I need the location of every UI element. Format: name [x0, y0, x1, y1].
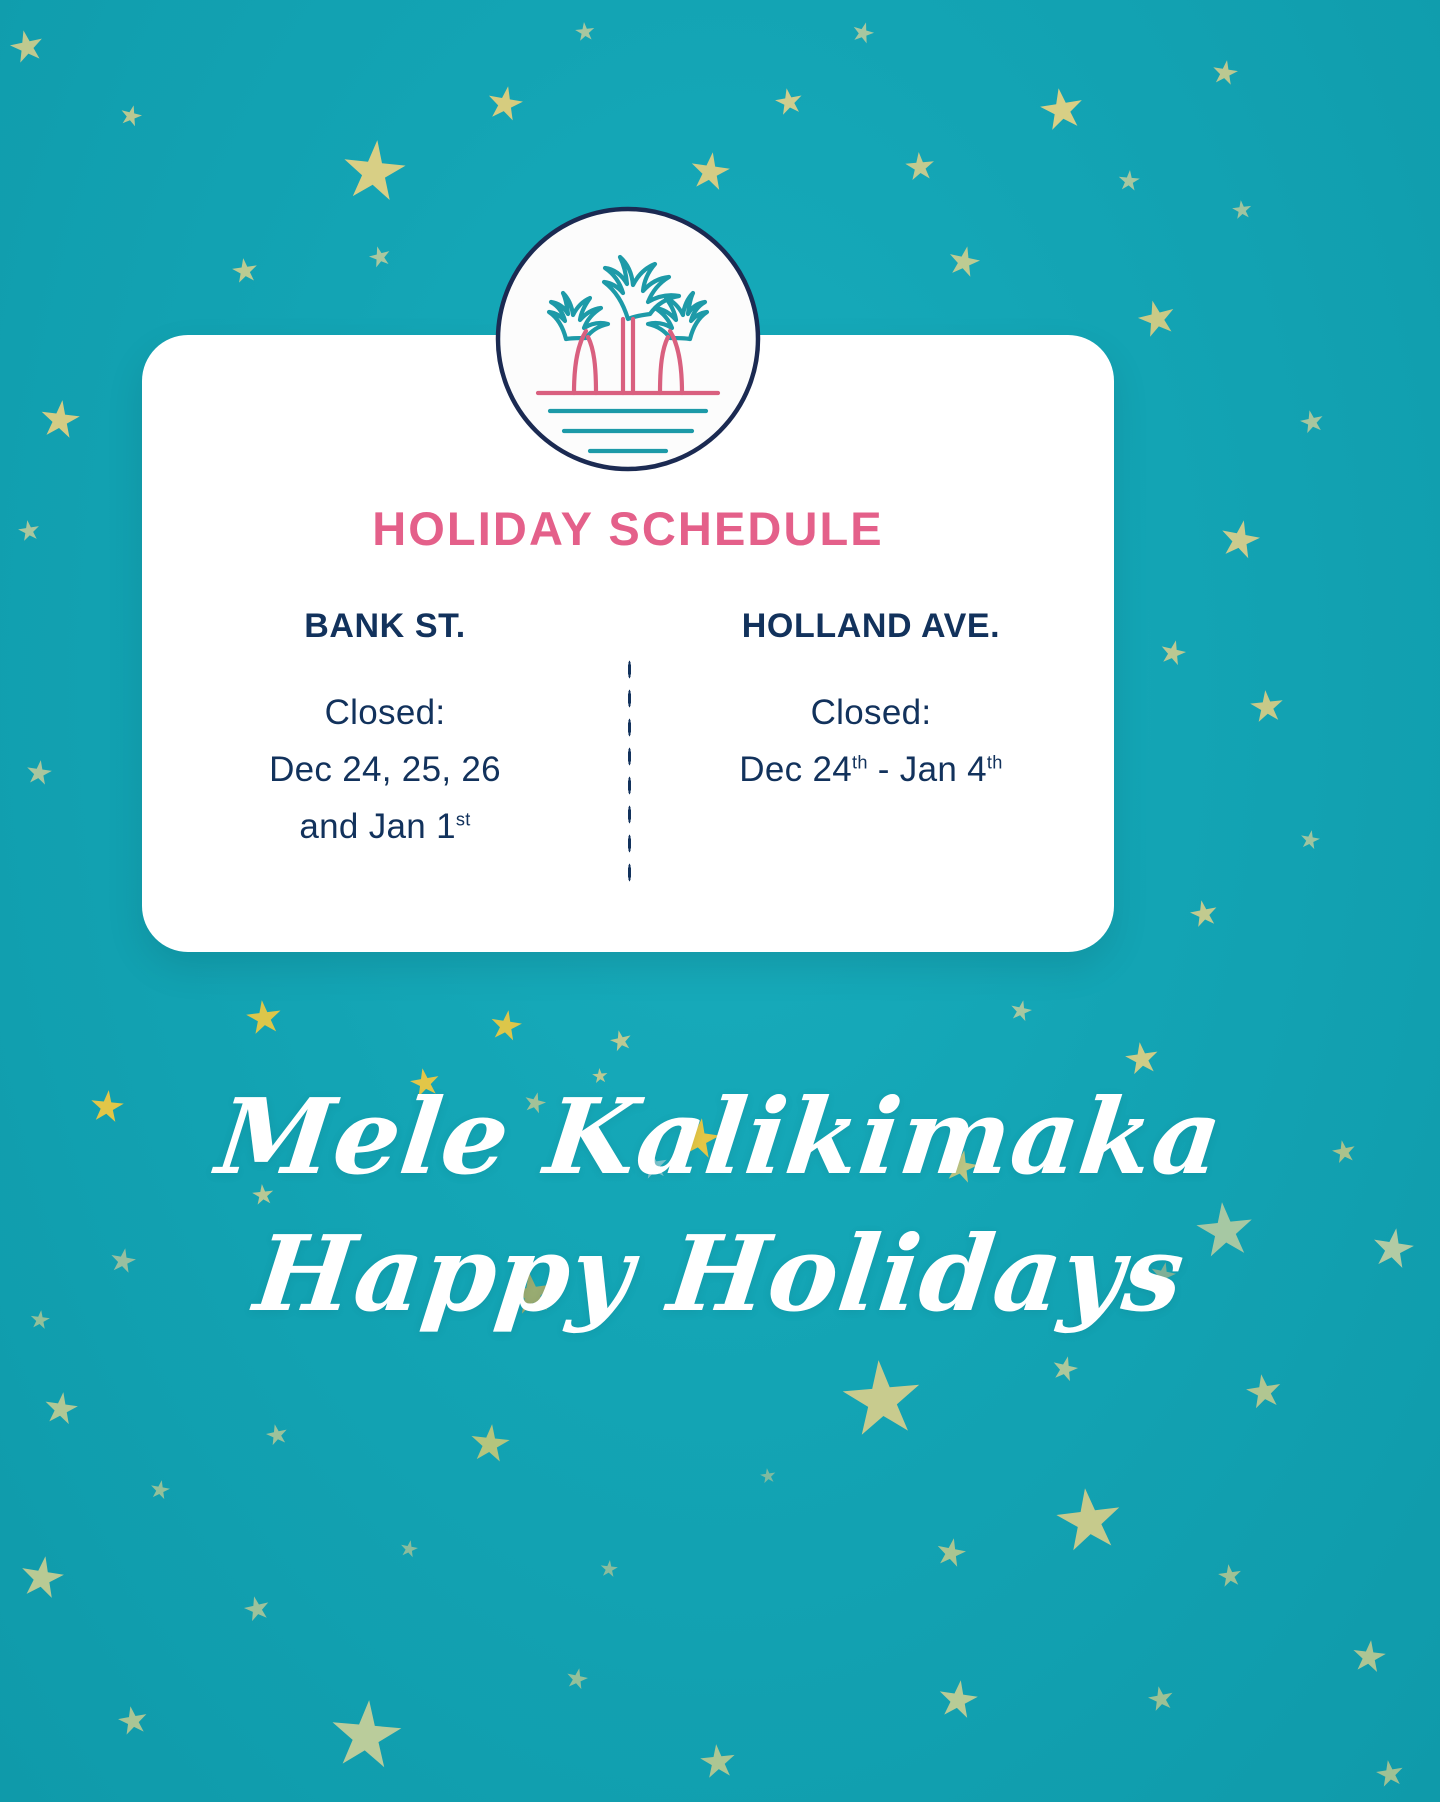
greeting-line-1: Mele Kalikimaka — [0, 1068, 1440, 1205]
location-hours-holland-ave: Closed: Dec 24th - Jan 4th — [628, 684, 1114, 798]
star-icon — [1374, 1758, 1406, 1790]
star-icon — [1248, 688, 1285, 725]
star-icon — [398, 1538, 419, 1559]
star-icon — [16, 518, 41, 543]
star-icon — [1231, 199, 1253, 221]
star-icon — [1052, 1484, 1126, 1558]
star-icon — [608, 1028, 634, 1054]
star-icon — [1210, 58, 1240, 88]
star-icon — [264, 1422, 290, 1448]
location-title-holland-ave: HOLLAND AVE. — [628, 607, 1114, 646]
location-column-bank-st: BANK ST. Closed: Dec 24, 25, 26 and Jan … — [142, 607, 628, 855]
column-divider-dotted — [627, 655, 632, 883]
schedule-line-text-2: - Jan 4 — [868, 750, 987, 789]
schedule-line-text: Dec 24 — [739, 750, 852, 789]
star-icon — [759, 1467, 777, 1485]
star-icon — [339, 137, 409, 207]
star-icon — [1298, 408, 1326, 436]
star-icon — [148, 1478, 171, 1501]
schedule-line: and Jan 1st — [142, 798, 628, 855]
star-icon — [1157, 637, 1188, 668]
location-column-holland-ave: HOLLAND AVE. Closed: Dec 24th - Jan 4th — [628, 607, 1114, 855]
greeting-line-2: Happy Holidays — [0, 1205, 1440, 1342]
star-icon — [1134, 296, 1180, 342]
star-icon — [904, 151, 937, 184]
star-icon — [574, 21, 596, 43]
star-icon — [116, 1704, 151, 1739]
schedule-line: Closed: — [628, 684, 1114, 741]
star-icon — [1117, 169, 1141, 193]
star-icon — [230, 256, 259, 285]
star-icon — [7, 27, 47, 67]
star-icon — [599, 1559, 619, 1579]
star-icon — [24, 758, 53, 787]
star-icon — [945, 243, 983, 281]
ordinal-suffix: th — [852, 752, 868, 772]
schedule-line: Closed: — [142, 684, 628, 741]
schedule-line-text: and Jan 1 — [299, 807, 455, 846]
star-icon — [1146, 1684, 1176, 1714]
palm-tree-circle-logo — [492, 203, 764, 475]
star-icon — [1350, 1638, 1388, 1676]
star-icon — [17, 1553, 67, 1603]
star-icon — [1008, 998, 1034, 1024]
ordinal-suffix-2: th — [987, 752, 1003, 772]
star-icon — [1298, 828, 1321, 851]
star-icon — [698, 1742, 738, 1782]
greeting-message: Mele Kalikimaka Happy Holidays — [0, 1068, 1440, 1343]
star-icon — [488, 1008, 525, 1045]
page-title: HOLIDAY SCHEDULE — [142, 501, 1114, 556]
star-icon — [244, 998, 284, 1038]
star-icon — [484, 83, 526, 125]
holiday-schedule-poster: HOLIDAY SCHEDULE BANK ST. Closed: Dec 24… — [0, 0, 1440, 1802]
star-icon — [935, 1677, 980, 1722]
star-icon — [1243, 1371, 1284, 1412]
star-icon — [241, 1593, 272, 1624]
schedule-line: Dec 24th - Jan 4th — [628, 741, 1114, 798]
star-icon — [839, 1357, 926, 1444]
star-icon — [687, 149, 732, 194]
star-icon — [42, 1390, 80, 1428]
star-icon — [468, 1422, 512, 1466]
star-icon — [1216, 1562, 1243, 1589]
star-icon — [118, 103, 145, 130]
star-icon — [367, 244, 394, 271]
star-icon — [849, 19, 876, 46]
schedule-line: Dec 24, 25, 26 — [142, 741, 628, 798]
star-icon — [1188, 898, 1221, 931]
location-hours-bank-st: Closed: Dec 24, 25, 26 and Jan 1st — [142, 684, 628, 855]
location-title-bank-st: BANK ST. — [142, 607, 628, 646]
star-icon — [564, 1666, 590, 1692]
star-icon — [1049, 1353, 1080, 1384]
star-icon — [38, 398, 83, 443]
star-icon — [933, 1535, 968, 1570]
star-icon — [773, 86, 805, 118]
star-icon — [1037, 85, 1087, 135]
ordinal-suffix: st — [456, 809, 471, 829]
star-icon — [327, 1697, 405, 1775]
star-icon — [1217, 517, 1264, 564]
